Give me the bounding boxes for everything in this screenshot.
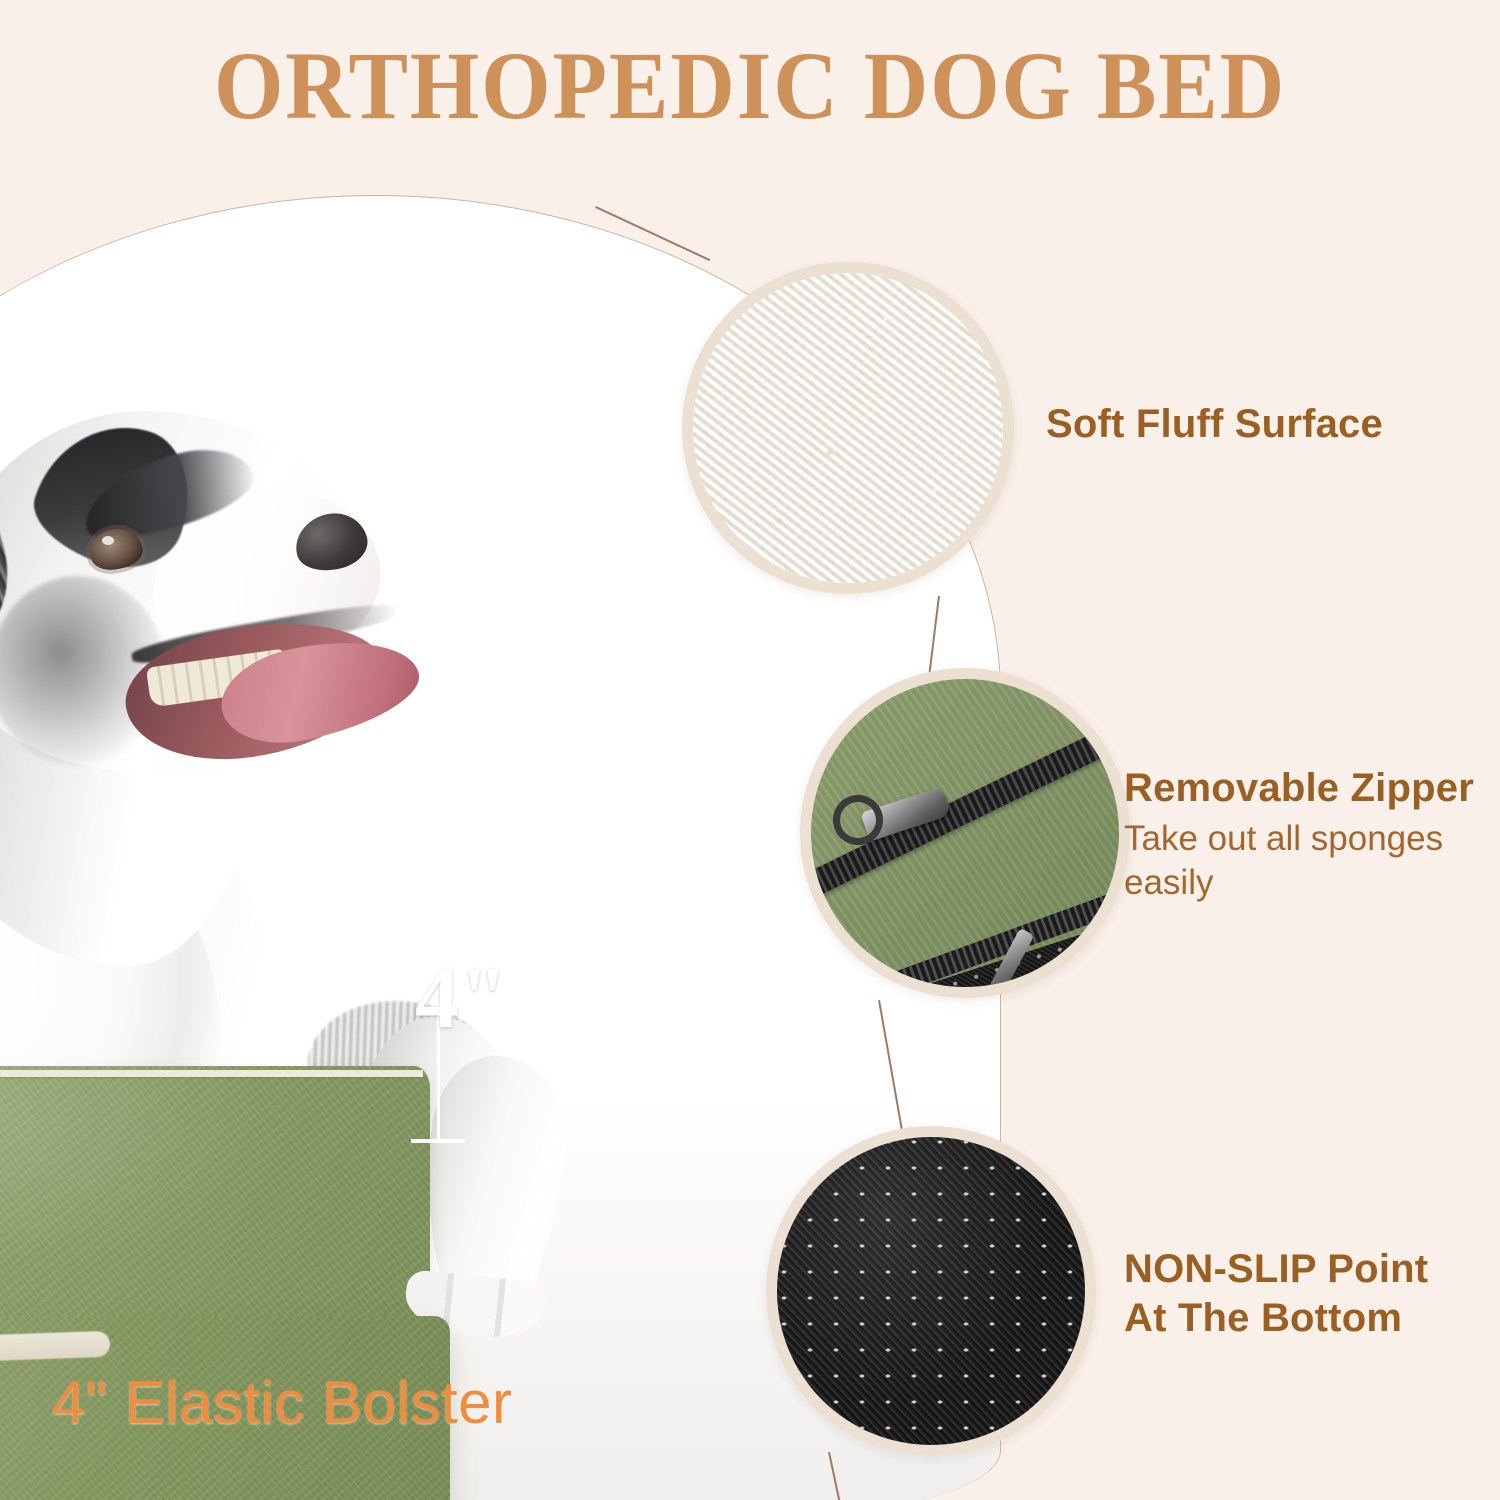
feature-swatch-non-slip-bottom: [766, 1126, 1096, 1456]
dimension-label: 4": [415, 955, 508, 1043]
feature-heading-non-slip-line2: At The Bottom: [1124, 1294, 1494, 1343]
bolster-caption: 4" Elastic Bolster: [52, 1368, 512, 1437]
feature-heading-removable-zipper: Removable Zipper: [1124, 764, 1494, 813]
dimension-cap-bottom: [411, 1139, 465, 1143]
page-title: ORTHOPEDIC DOG BED: [53, 36, 1448, 137]
bolster-piping-trim: [0, 1070, 423, 1357]
feature-heading-soft-fluff: Soft Fluff Surface: [1046, 400, 1476, 449]
infographic-page: ORTHOPEDIC DOG BED: [0, 0, 1500, 1500]
fluff-nubs: [693, 273, 1003, 583]
feature-label-removable-zipper: Removable Zipper Take out all sponges ea…: [1124, 764, 1494, 904]
nonslip-sheen: [777, 1137, 1085, 1445]
feature-label-soft-fluff: Soft Fluff Surface: [1046, 400, 1476, 449]
feature-swatch-soft-fluff: [682, 262, 1014, 594]
feature-sub-removable-zipper: Take out all sponges easily: [1124, 817, 1494, 905]
feature-swatch-removable-zipper: [800, 668, 1130, 998]
feature-heading-non-slip-line1: NON-SLIP Point: [1124, 1245, 1494, 1294]
dog-eye-highlight: [102, 536, 114, 545]
feature-label-non-slip: NON-SLIP Point At The Bottom: [1124, 1245, 1494, 1343]
